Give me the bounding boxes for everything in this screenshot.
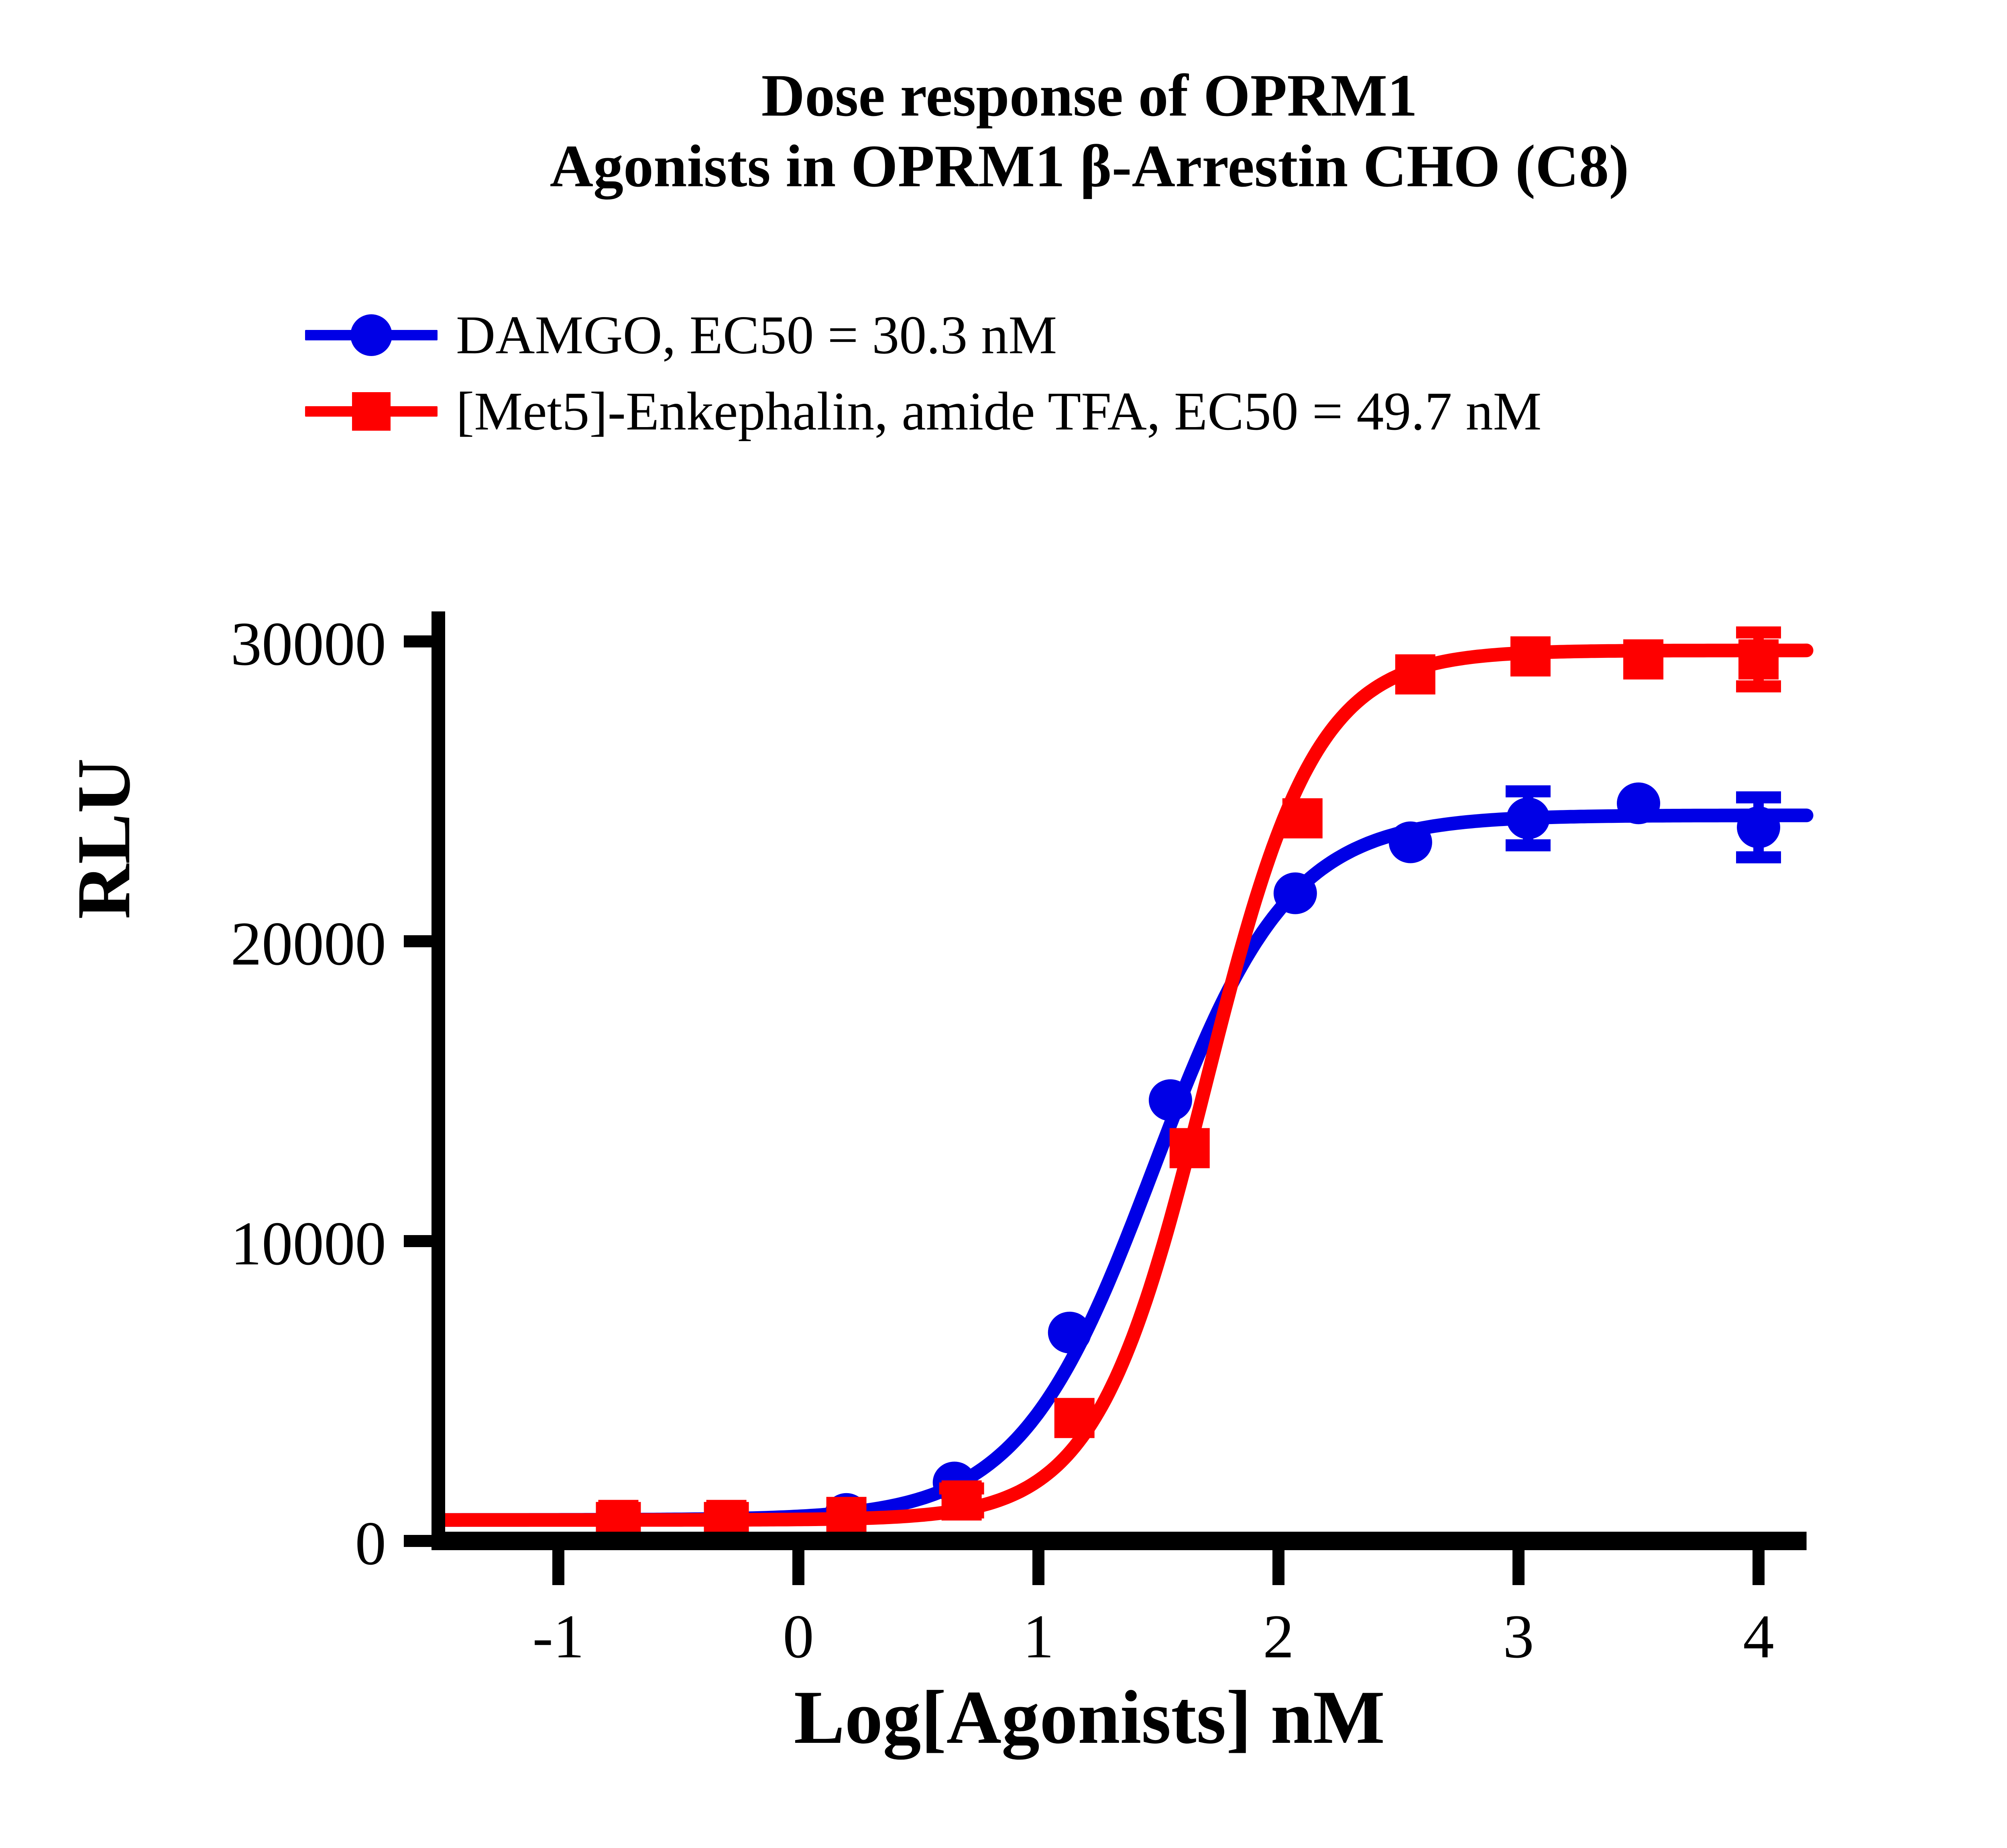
series-1-group [438,782,1807,1535]
y-axis-title: RLU [60,758,148,919]
y-tick-label: 10000 [231,1209,387,1278]
legend-marker-circle-icon [305,311,438,359]
data-point-marker[interactable] [1617,782,1660,824]
data-point-marker[interactable] [1623,639,1663,680]
legend-label-damgo: DAMGO, EC50 = 30.3 nM [438,305,1057,365]
plot-area: 0100002000030000-101234 [0,0,2007,1848]
x-tick-label: 3 [1503,1602,1534,1671]
data-point-marker[interactable] [933,1461,976,1503]
x-tick-label: 4 [1743,1602,1774,1671]
legend-marker-square-icon [305,387,438,436]
x-tick-label: 0 [783,1602,814,1671]
data-point-marker[interactable] [1389,821,1432,863]
legend-item-damgo[interactable]: DAMGO, EC50 = 30.3 nM [305,297,2007,373]
y-tick-label: 30000 [231,609,387,678]
data-point-marker[interactable] [1274,872,1317,914]
data-point-marker[interactable] [942,1480,982,1520]
data-point-marker[interactable] [826,1497,867,1537]
data-point-marker[interactable] [598,1500,639,1540]
data-point-marker[interactable] [1149,1079,1192,1121]
series-2-group [438,633,1807,1540]
tick-labels-layer: 0100002000030000-101234 [231,609,1774,1671]
legend-item-enkephalin[interactable]: [Met5]-Enkephalin, amide TFA, EC50 = 49.… [305,373,2007,450]
chart-title-line-1: Dose response of OPRM1 [0,60,2007,131]
y-tick-label: 20000 [231,909,387,978]
axes-layer [404,611,1807,1585]
fit-curve [438,650,1807,1520]
data-point-marker[interactable] [1737,806,1780,848]
data-point-marker[interactable] [1395,654,1435,694]
legend-label-enkephalin: [Met5]-Enkephalin, amide TFA, EC50 = 49.… [438,381,1541,442]
chart-page: Dose response of OPRM1 Agonists in OPRM1… [0,0,2007,1848]
chart-legend: DAMGO, EC50 = 30.3 nM [Met5]-Enkephalin,… [305,297,2007,450]
data-point-marker[interactable] [1170,1128,1210,1168]
data-point-marker[interactable] [706,1500,747,1540]
data-point-marker[interactable] [1510,636,1551,676]
chart-title: Dose response of OPRM1 Agonists in OPRM1… [0,60,2007,201]
series-layer [438,633,1807,1540]
data-point-marker[interactable] [1282,798,1323,839]
x-tick-label: -1 [532,1602,584,1671]
chart-title-line-2: Agonists in OPRM1 β-Arrestin CHO (C8) [0,131,2007,201]
data-point-marker[interactable] [825,1493,868,1535]
fit-curve [438,815,1807,1520]
x-tick-label: 2 [1263,1602,1294,1671]
data-point-marker[interactable] [1054,1398,1095,1438]
x-axis-title: Log[Agonists] nM [0,1674,2007,1761]
y-tick-label: 0 [355,1509,387,1578]
x-tick-label: 1 [1023,1602,1054,1671]
data-point-marker[interactable] [1738,639,1779,680]
data-point-marker[interactable] [1506,798,1550,839]
data-point-marker[interactable] [1048,1312,1091,1353]
